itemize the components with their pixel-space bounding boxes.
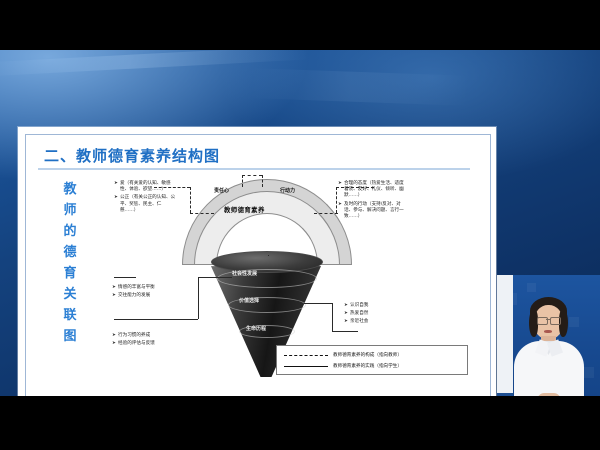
- legend-label: 教师德育素养的实践（指向学生）: [333, 363, 402, 369]
- slide-content-area: 二、教师德育素养结构图 教 师 的 德 育 关 联 图 ➤ 爱（有关爱的认知: [25, 134, 491, 396]
- legend-item-composition: 教师德育素养的构成（指向教师）: [284, 352, 402, 358]
- list-item-label: 情感的丰富与平衡: [118, 285, 155, 291]
- solid-connector: [332, 303, 333, 331]
- vertical-caption-char: 德: [58, 242, 82, 263]
- vertical-caption: 教 师 的 德 育 关 联 图: [58, 179, 82, 347]
- cone-label-life-course: 生命历程: [246, 325, 266, 332]
- solid-connector: [114, 319, 198, 320]
- presenter-mouth: [544, 330, 552, 333]
- dashed-connector-right: [336, 187, 374, 188]
- letterbox-top: [0, 0, 600, 50]
- list-item-label: 行为习惯的养成: [118, 333, 150, 339]
- bullet-group-left-bottom: ➤ 行为习惯的养成 ➤ 经验的评估与反馈: [112, 333, 186, 349]
- list-item: ➤ 情感的丰富与平衡: [112, 285, 186, 291]
- list-item: ➤ 交往能力的发展: [112, 293, 186, 299]
- vertical-caption-char: 图: [58, 326, 82, 347]
- arc-label-action: 行动力: [280, 187, 295, 194]
- diagram-legend: 教师德育素养的构成（指向教师） 教师德育素养的实践（指向学生）: [276, 345, 468, 375]
- dashed-connector-right: [314, 213, 338, 214]
- presentation-slide: 二、教师德育素养结构图 教 师 的 德 育 关 联 图 ➤ 爱（有关爱的认知: [18, 127, 496, 396]
- list-item: ➤ 经验的评估与反馈: [112, 341, 186, 347]
- arc-label-core: 教师德育素养: [224, 205, 265, 214]
- glasses-lens-icon: [550, 317, 561, 325]
- solid-connector: [332, 331, 358, 332]
- legend-item-practice: 教师德育素养的实践（指向学生）: [284, 363, 402, 369]
- dashed-connector-right: [336, 187, 337, 213]
- studio-wall-left: [497, 275, 513, 395]
- legend-label: 教师德育素养的构成（指向教师）: [333, 352, 402, 358]
- list-item-label: 交往能力的发展: [118, 293, 150, 299]
- cone-label-value-choice: 价值选择: [239, 297, 259, 304]
- vertical-caption-char: 育: [58, 263, 82, 284]
- dashed-connector: [262, 175, 263, 187]
- vertical-caption-char: 的: [58, 221, 82, 242]
- vertical-caption-char: 教: [58, 179, 82, 200]
- backdrop-light-streak: [250, 68, 471, 106]
- solid-connector: [198, 277, 199, 319]
- bullet-group-left-mid: ➤ 情感的丰富与平衡 ➤ 交往能力的发展: [112, 285, 186, 301]
- dashed-connector-left: [154, 187, 190, 188]
- legend-solid-line-icon: [284, 366, 328, 367]
- dashed-connector-left: [190, 187, 191, 213]
- backdrop-pattern-square: [527, 283, 536, 292]
- legend-dash-line-icon: [284, 355, 328, 356]
- dashed-connector-left: [190, 213, 214, 214]
- vertical-caption-char: 关: [58, 284, 82, 305]
- solid-connector: [198, 277, 232, 278]
- video-player-stage: 二、教师德育素养结构图 教 师 的 德 育 关 联 图 ➤ 爱（有关爱的认知: [0, 0, 600, 450]
- list-item: ➤ 公正（有关公正的认知、公平、奖惩、民主、仁慈……）: [114, 195, 176, 214]
- solid-connector: [304, 303, 332, 304]
- lecture-video-frame: 二、教师德育素养结构图 教 师 的 德 育 关 联 图 ➤ 爱（有关爱的认知: [0, 50, 600, 396]
- solid-connector: [114, 277, 136, 278]
- list-item: ➤ 行为习惯的养成: [112, 333, 186, 339]
- letterbox-bottom: [0, 396, 600, 450]
- dashed-connector: [242, 175, 243, 187]
- presenter-camera-feed: [497, 275, 600, 396]
- list-item-label: 经验的评估与反馈: [118, 341, 155, 347]
- vertical-caption-char: 师: [58, 200, 82, 221]
- solid-connector: [268, 255, 269, 256]
- list-item-label: 公正（有关公正的认知、公平、奖惩、民主、仁慈……）: [120, 195, 176, 214]
- glasses-bridge-icon: [546, 319, 550, 320]
- dashed-connector: [242, 175, 262, 176]
- backdrop-pattern-square: [583, 367, 594, 378]
- slide-title: 二、教师德育素养结构图: [44, 145, 220, 166]
- vertical-caption-char: 联: [58, 305, 82, 326]
- cone-label-social-development: 社会性发展: [232, 270, 257, 277]
- backdrop-pattern-square: [569, 317, 579, 327]
- arc-label-responsibility: 责任心: [214, 187, 229, 194]
